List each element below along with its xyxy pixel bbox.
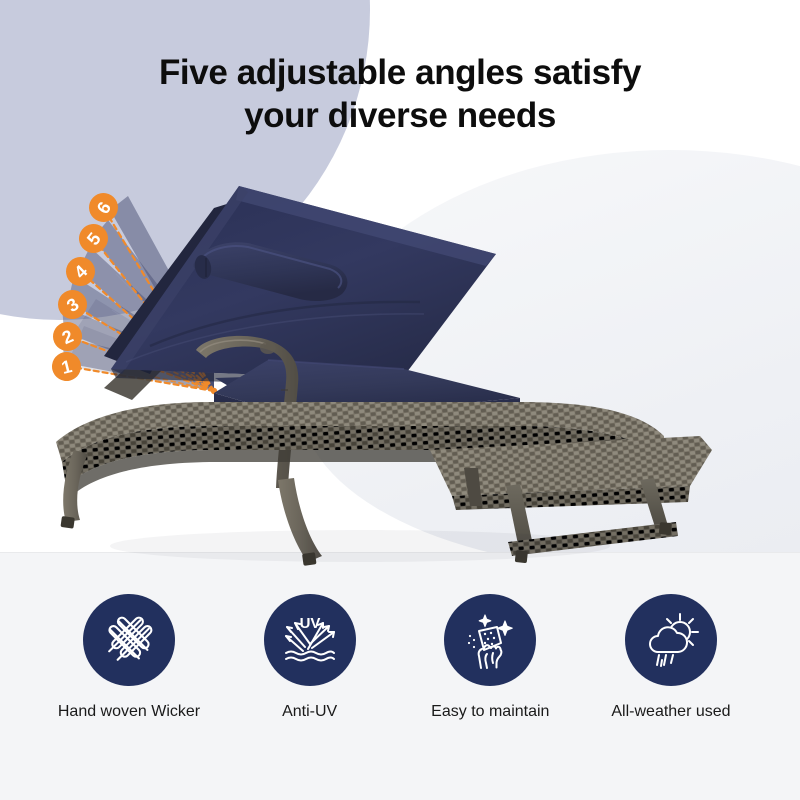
feature-label-all-weather-used: All-weather used (611, 702, 730, 722)
feature-item-hand-woven-wicker: Hand woven Wicker (44, 594, 214, 722)
angle-badge-3-label: 3 (63, 294, 81, 315)
angle-badge-4-label: 4 (71, 262, 91, 282)
sun-cloud-rain-icon (625, 594, 717, 686)
feature-item-all-weather-used: All-weather used (586, 594, 756, 722)
angle-badge-5-label: 5 (83, 229, 103, 248)
feature-list: Hand woven Wicker UV (0, 594, 800, 764)
feature-label-easy-to-maintain: Easy to maintain (431, 702, 549, 722)
anti-uv-icon: UV (264, 594, 356, 686)
headline: Five adjustable angles satisfy your dive… (0, 52, 800, 137)
feature-item-easy-to-maintain: Easy to maintain (405, 594, 575, 722)
angle-badge-6-label: 6 (93, 198, 114, 216)
product-marketing-image: Five adjustable angles satisfy your dive… (0, 0, 800, 800)
cleaning-hand-icon (444, 594, 536, 686)
feature-label-anti-uv: Anti-UV (282, 702, 337, 722)
svg-text:UV: UV (299, 615, 320, 632)
feature-item-anti-uv: UV Anti-UV (225, 594, 395, 722)
woven-wicker-icon (83, 594, 175, 686)
product-illustration (0, 150, 800, 570)
angle-badge-2-label: 2 (59, 326, 75, 347)
feature-label-hand-woven-wicker: Hand woven Wicker (58, 702, 200, 722)
angle-badge-1-label: 1 (59, 357, 73, 377)
